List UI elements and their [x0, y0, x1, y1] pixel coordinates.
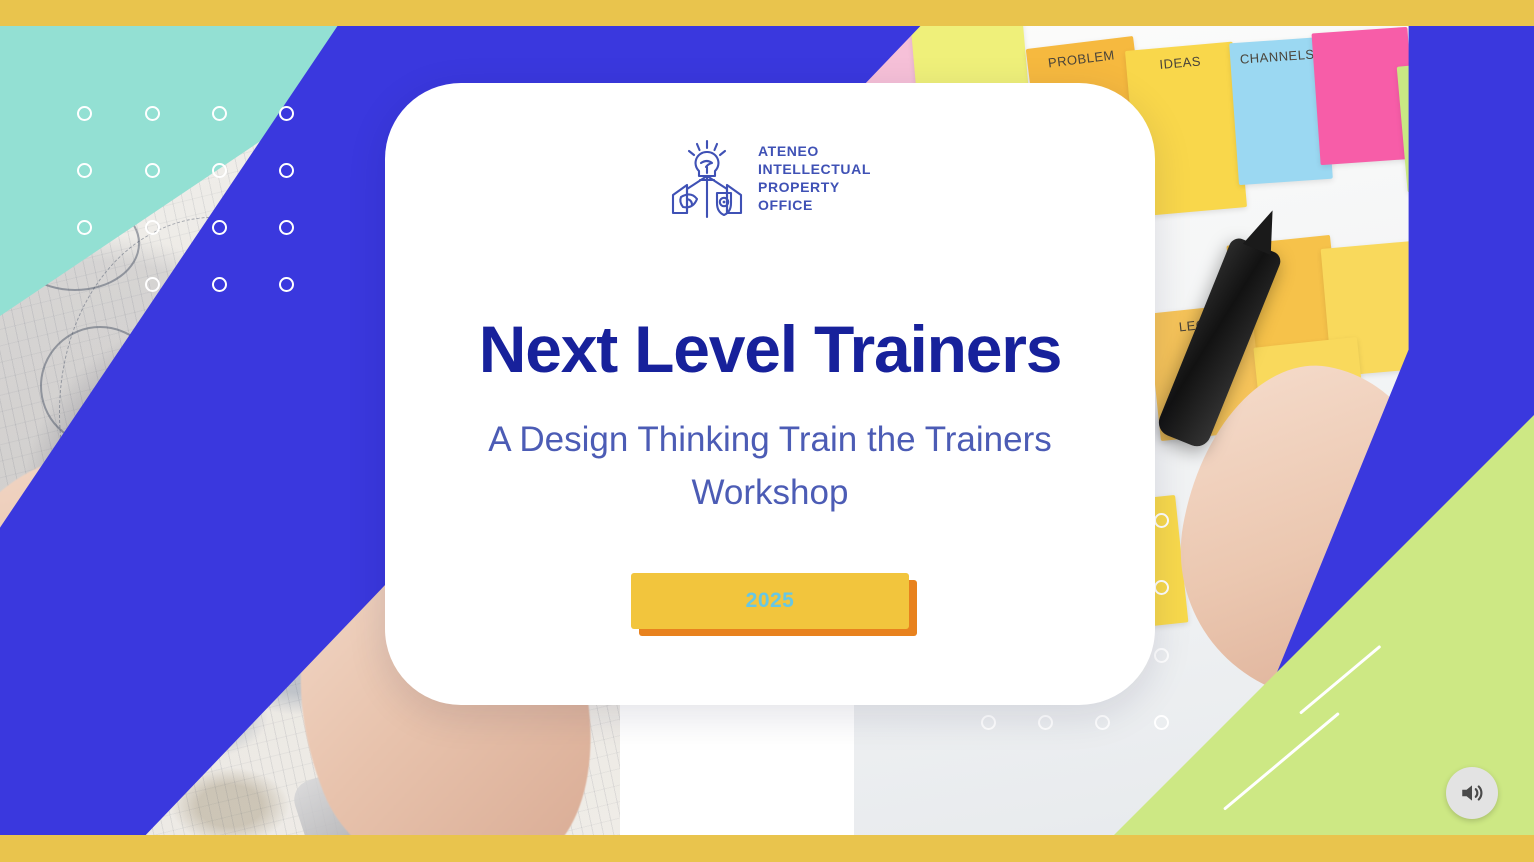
decor-dot [279, 163, 294, 178]
decor-dot [212, 277, 227, 292]
logo-line-3: PROPERTY [758, 179, 871, 197]
decor-dot [279, 277, 294, 292]
slide-subtitle: A Design Thinking Train the Trainers Wor… [450, 414, 1090, 519]
decor-dot [77, 106, 92, 121]
decor-dot [145, 220, 160, 235]
year-button[interactable]: 2025 [631, 573, 909, 629]
decor-dot [145, 277, 160, 292]
organization-logo-text: ATENEO INTELLECTUAL PROPERTY OFFICE [758, 143, 871, 215]
decor-dot [1095, 715, 1110, 730]
decor-dot [279, 220, 294, 235]
decor-dot [1154, 580, 1169, 595]
decor-dot [145, 163, 160, 178]
title-card: ATENEO INTELLECTUAL PROPERTY OFFICE Next… [385, 83, 1155, 705]
top-frame-bar [0, 0, 1534, 26]
decor-dot [1154, 715, 1169, 730]
logo-line-1: ATENEO [758, 143, 871, 161]
decor-dot [1154, 648, 1169, 663]
title-slide: PROBLEM IDEAS CHANNELS LEGAL [0, 0, 1534, 862]
bottom-frame-bar [0, 835, 1534, 862]
decor-dot [279, 106, 294, 121]
decor-dot [981, 715, 996, 730]
decor-dot [212, 220, 227, 235]
slide-title: Next Level Trainers [479, 315, 1062, 384]
decor-dot [77, 220, 92, 235]
logo-line-2: INTELLECTUAL [758, 161, 871, 179]
sound-toggle-button[interactable] [1446, 767, 1498, 819]
ateneo-ipo-lightbulb-shield-logo-icon [669, 139, 745, 219]
decor-dot [1154, 513, 1169, 528]
logo-line-4: OFFICE [758, 197, 871, 215]
decor-dot [1038, 715, 1053, 730]
decor-dot [77, 163, 92, 178]
organization-logo: ATENEO INTELLECTUAL PROPERTY OFFICE [669, 139, 871, 219]
speaker-volume-icon [1459, 780, 1485, 806]
decor-dot [212, 106, 227, 121]
year-button-wrapper: 2025 [631, 573, 909, 629]
decor-dot [212, 163, 227, 178]
decor-dot [145, 106, 160, 121]
